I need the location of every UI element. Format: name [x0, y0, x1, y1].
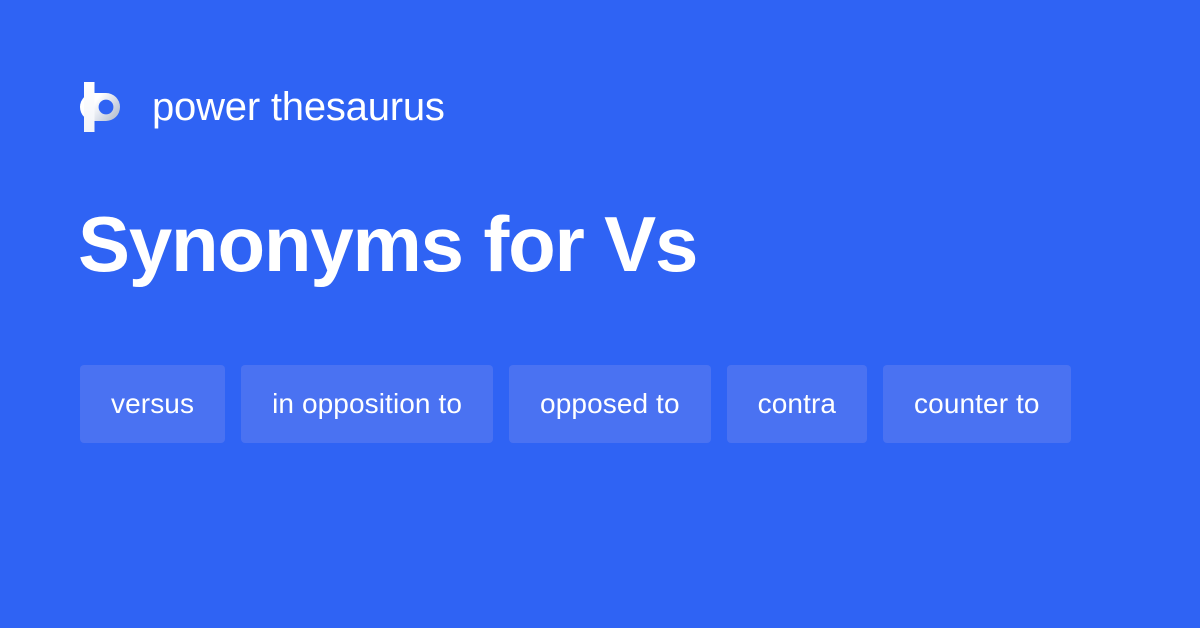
synonym-chip[interactable]: in opposition to — [241, 365, 493, 443]
power-thesaurus-b-logo-icon — [80, 82, 124, 132]
synonym-chip[interactable]: contra — [727, 365, 867, 443]
synonym-chip[interactable]: versus — [80, 365, 225, 443]
og-share-card: power thesaurus Synonyms for Vs versus i… — [0, 0, 1200, 628]
brand-name: power thesaurus — [152, 87, 445, 127]
page-title: Synonyms for Vs — [78, 196, 697, 292]
brand-header[interactable]: power thesaurus — [80, 78, 445, 136]
synonym-chip[interactable]: opposed to — [509, 365, 711, 443]
synonym-chip[interactable]: counter to — [883, 365, 1071, 443]
synonym-chip-list: versus in opposition to opposed to contr… — [80, 365, 1120, 443]
